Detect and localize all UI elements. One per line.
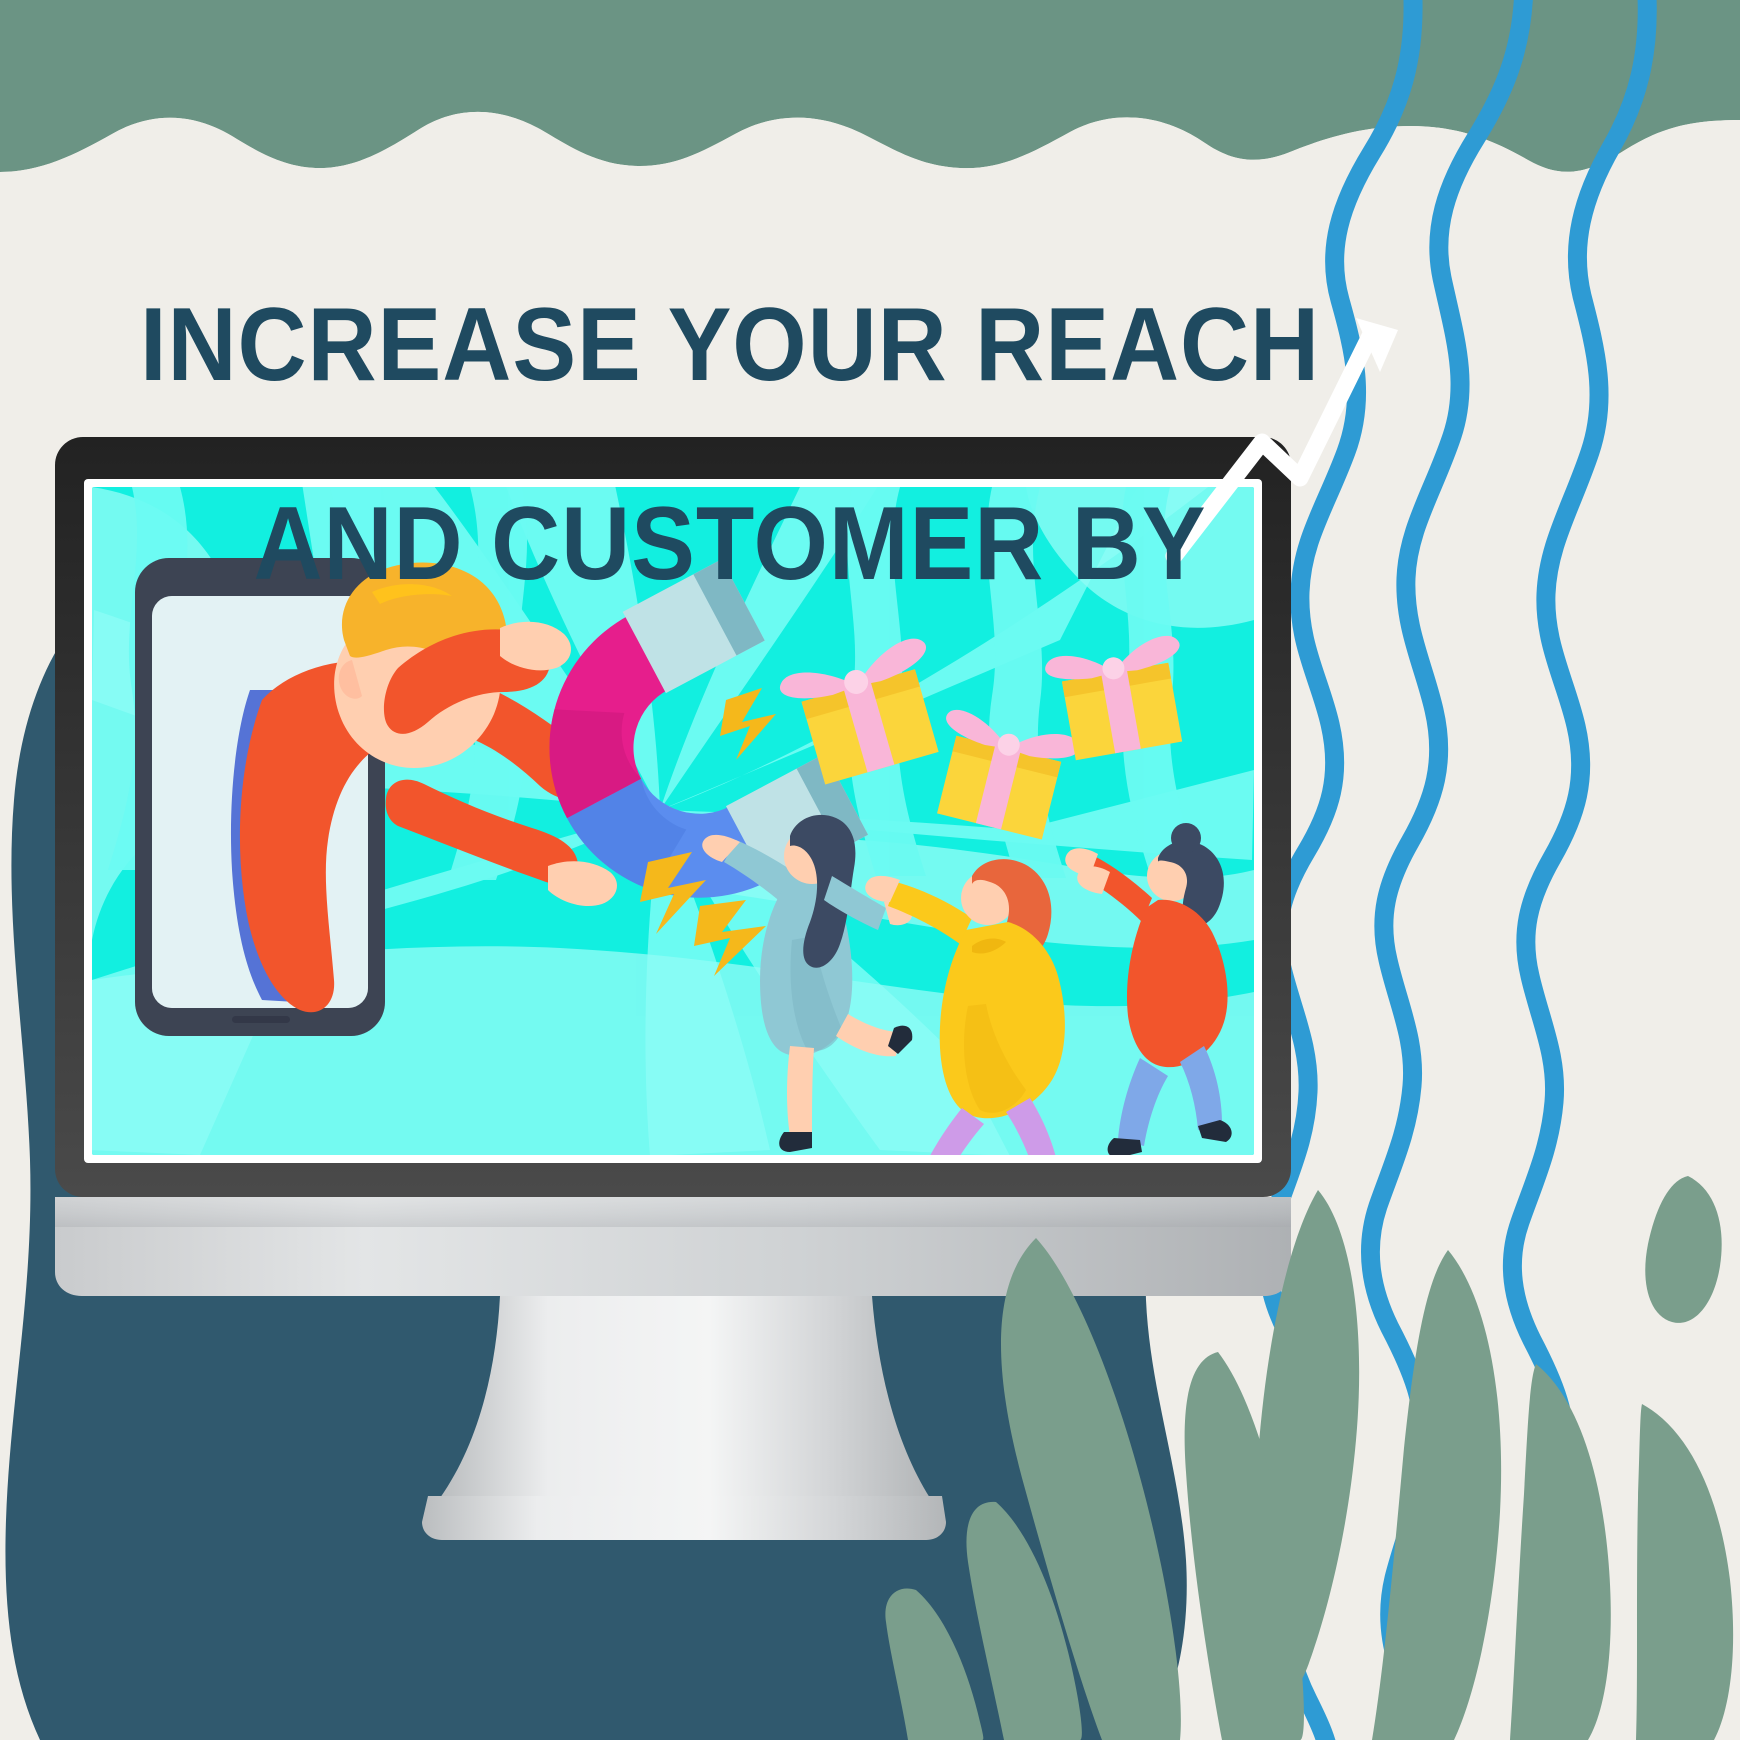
growth-arrow: [1174, 318, 1398, 556]
plant-leaves: [885, 1176, 1733, 1740]
leaf: [1636, 1404, 1733, 1740]
leaf: [1645, 1176, 1721, 1323]
poster-canvas: INCREASE YOUR REACH AND CUSTOMER BY: [0, 0, 1740, 1740]
leaf: [885, 1588, 983, 1740]
leaf: [1372, 1250, 1501, 1740]
leaf: [1510, 1364, 1611, 1740]
foreground-decor-layer: [0, 0, 1740, 1740]
